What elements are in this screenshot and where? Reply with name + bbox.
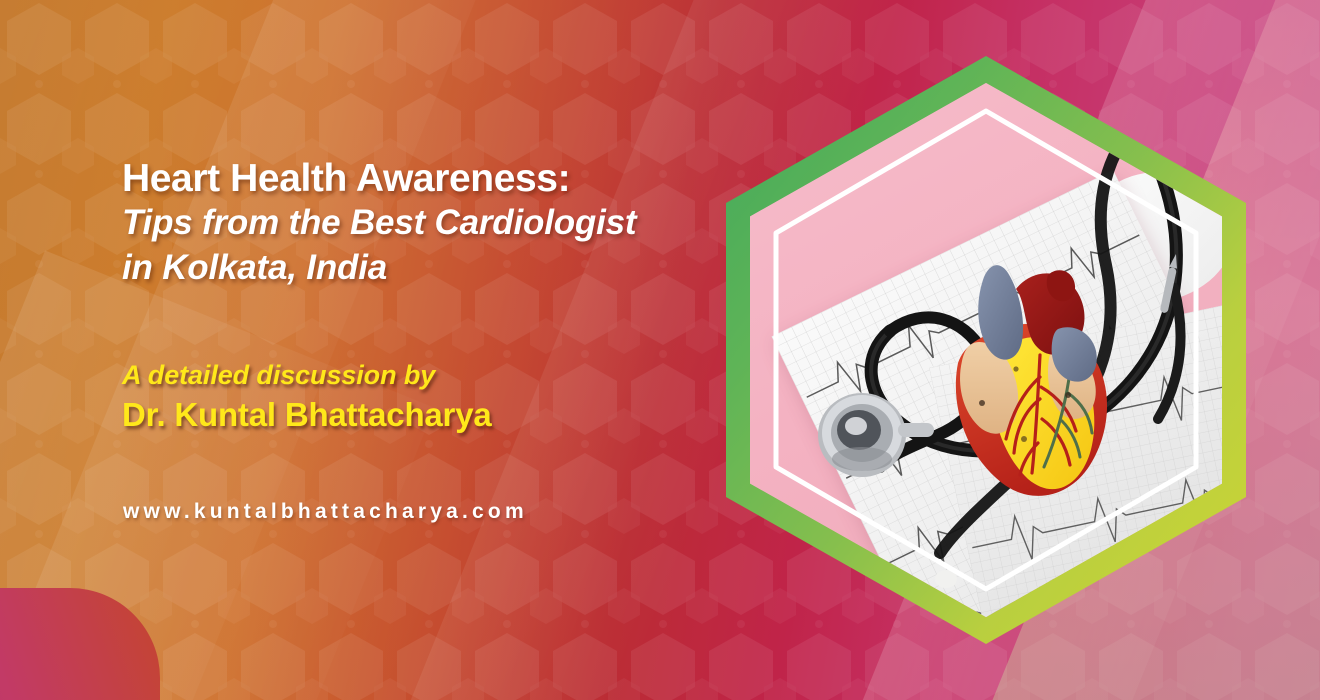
- byline-author-name: Dr. Kuntal Bhattacharya: [122, 396, 742, 434]
- heart-health-banner: Heart Health Awareness: Tips from the Be…: [0, 0, 1320, 700]
- headline-block: Heart Health Awareness: Tips from the Be…: [122, 158, 742, 289]
- byline-block: A detailed discussion by Dr. Kuntal Bhat…: [122, 360, 742, 434]
- page-title: Heart Health Awareness:: [122, 158, 742, 199]
- website-url[interactable]: www.kuntalbhattacharya.com: [123, 500, 528, 524]
- hexagon-photo-badge: [726, 56, 1246, 644]
- corner-accent-shape: [0, 588, 160, 700]
- byline-intro: A detailed discussion by: [122, 360, 742, 391]
- subtitle-line-1: Tips from the Best Cardiologist: [122, 203, 742, 244]
- anatomical-heart-model-icon: [920, 253, 1150, 513]
- subtitle-line-2: in Kolkata, India: [122, 248, 742, 289]
